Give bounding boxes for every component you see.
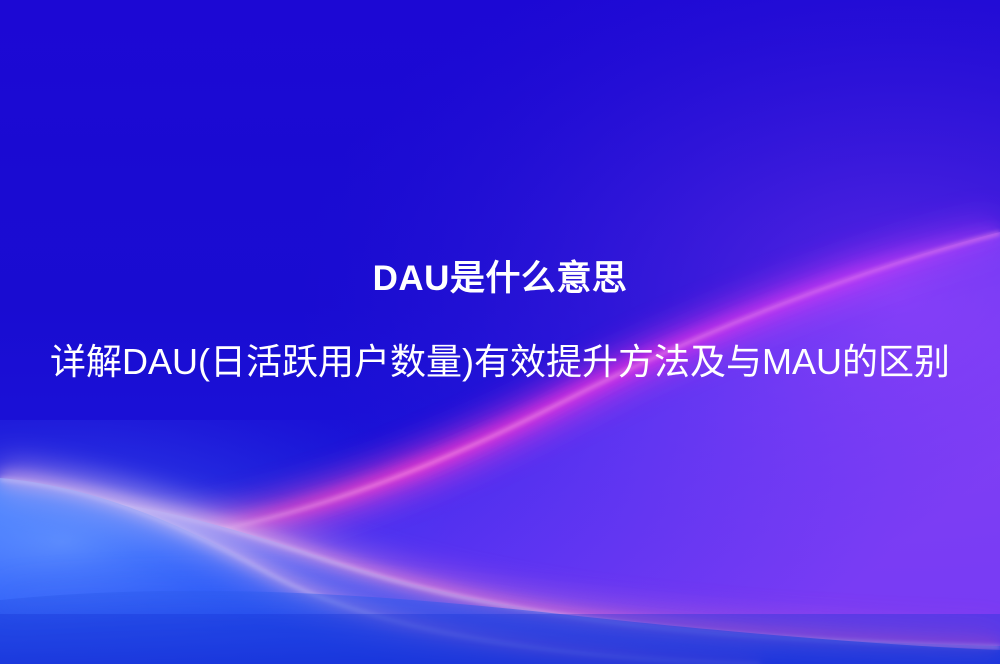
wave-decoration-layer — [0, 0, 1000, 664]
banner-root: DAU是什么意思 详解DAU(日活跃用户数量)有效提升方法及与MAU的区别 — [0, 0, 1000, 664]
bottom-vignette — [0, 614, 1000, 664]
